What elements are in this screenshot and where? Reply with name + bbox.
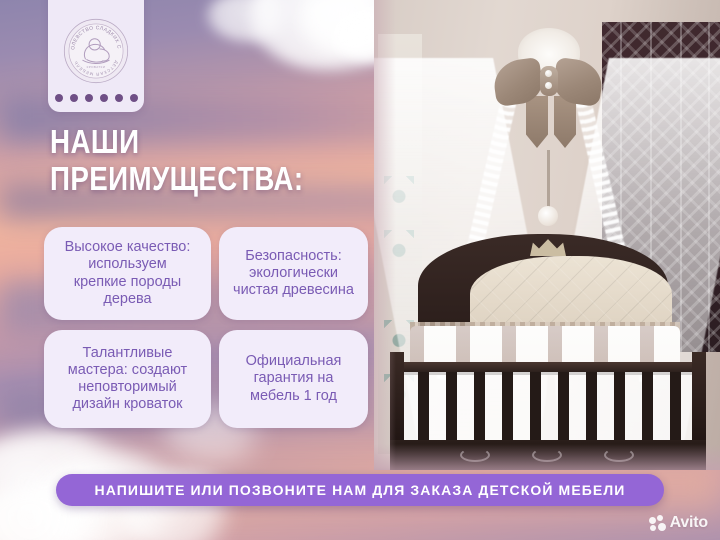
advantages-grid: Высокое качество: используем крепкие пор… bbox=[44, 227, 368, 428]
photo-edge-fade bbox=[374, 0, 396, 470]
advantage-card-warranty: Официальная гарантия на мебель 1 год bbox=[219, 330, 368, 428]
pearl-accent bbox=[545, 70, 552, 77]
advantage-text: Талантливые мастера: создают неповторимы… bbox=[68, 345, 187, 413]
advantage-card-craftsmen: Талантливые мастера: создают неповторимы… bbox=[44, 330, 211, 428]
headline-line-1: НАШИ bbox=[50, 123, 139, 160]
advantage-card-safety: Безопасность: экологически чистая древес… bbox=[219, 227, 368, 320]
avito-dots-icon bbox=[649, 515, 666, 532]
dot bbox=[130, 94, 138, 102]
promo-poster: КОРОЛЕВСТВО СЛАДКИХ СНОВ ДЕТСКАЯ МЕБЕЛЬ … bbox=[0, 0, 720, 540]
decorative-dots bbox=[55, 94, 138, 102]
cta-banner[interactable]: НАПИШИТЕ ИЛИ ПОЗВОНИТЕ НАМ ДЛЯ ЗАКАЗА ДЕ… bbox=[56, 474, 664, 506]
svg-text:КРОВАТКИ: КРОВАТКИ bbox=[87, 65, 106, 69]
baby-crib bbox=[390, 234, 706, 470]
sleeping-baby-icon: КОРОЛЕВСТВО СЛАДКИХ СНОВ ДЕТСКАЯ МЕБЕЛЬ … bbox=[63, 18, 129, 84]
dot bbox=[70, 94, 78, 102]
dot bbox=[55, 94, 63, 102]
cta-label: НАПИШИТЕ ИЛИ ПОЗВОНИТЕ НАМ ДЛЯ ЗАКАЗА ДЕ… bbox=[95, 482, 626, 498]
brand-logo-card: КОРОЛЕВСТВО СЛАДКИХ СНОВ ДЕТСКАЯ МЕБЕЛЬ … bbox=[48, 0, 144, 112]
page-title: НАШИ ПРЕИМУЩЕСТВА: bbox=[50, 124, 304, 198]
pearl-accent bbox=[545, 82, 552, 89]
dot bbox=[85, 94, 93, 102]
dot bbox=[100, 94, 108, 102]
photo-bottom-fade bbox=[374, 444, 720, 470]
advantage-text: Высокое качество: используем крепкие пор… bbox=[65, 239, 191, 307]
crib-photo bbox=[374, 0, 720, 470]
avito-watermark: Avito bbox=[649, 514, 708, 532]
advantage-text: Безопасность: экологически чистая древес… bbox=[233, 248, 354, 299]
advantage-text: Официальная гарантия на мебель 1 год bbox=[246, 353, 342, 404]
advantage-card-quality: Высокое качество: используем крепкие пор… bbox=[44, 227, 211, 320]
canopy-cord bbox=[547, 150, 550, 210]
headline-line-2: ПРЕИМУЩЕСТВА: bbox=[50, 161, 304, 198]
crib-slats bbox=[390, 372, 706, 446]
flower-ornament bbox=[538, 206, 558, 226]
dot bbox=[115, 94, 123, 102]
avito-wordmark: Avito bbox=[670, 514, 708, 532]
